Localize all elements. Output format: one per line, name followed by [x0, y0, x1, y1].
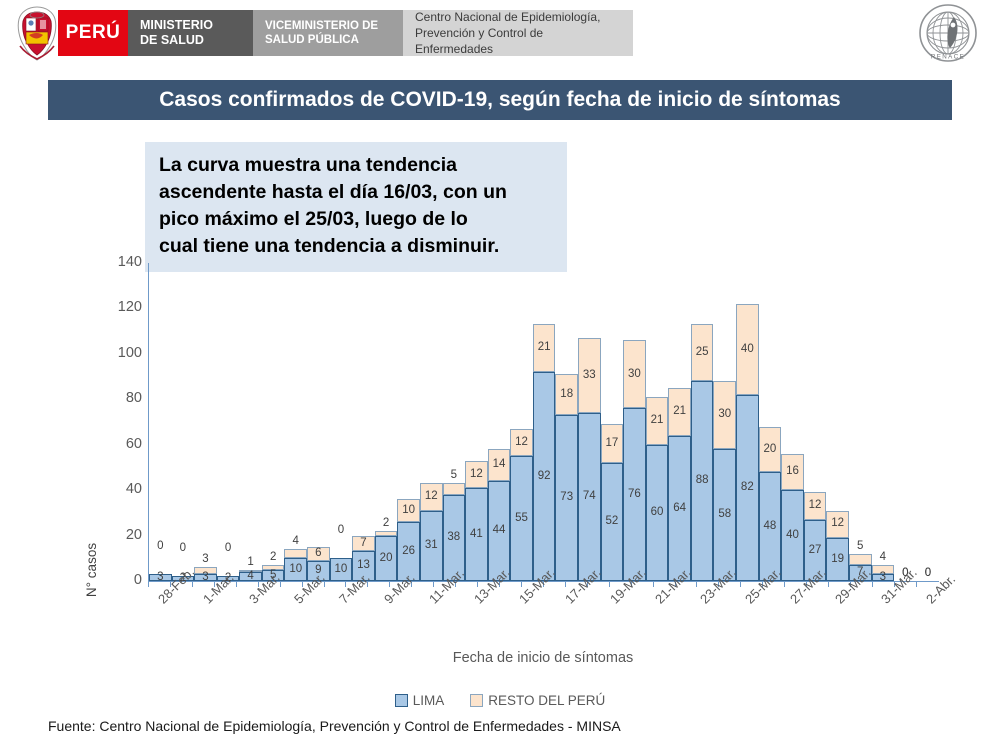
- y-tick-100: 100: [98, 345, 142, 361]
- bar-column[interactable]: 02: [217, 263, 240, 581]
- bar-column[interactable]: 1231: [420, 263, 443, 581]
- peru-label: PERÚ: [58, 10, 128, 56]
- bar-value-resto: 1: [239, 556, 262, 568]
- bar-value-lima: 10: [289, 564, 302, 576]
- bar-value-resto: 14: [493, 459, 506, 471]
- bar-column[interactable]: 3374: [578, 263, 601, 581]
- bar-value-resto: 40: [741, 344, 754, 356]
- bar-column[interactable]: 1752: [601, 263, 624, 581]
- peru-coat-of-arms-icon: [14, 4, 60, 62]
- ministry-line-2: DE SALUD: [140, 33, 241, 48]
- bar-value-resto: 30: [628, 369, 641, 381]
- bar-segment-resto[interactable]: 14: [488, 449, 511, 481]
- bar-value-resto: 21: [673, 406, 686, 418]
- bar-value-resto: 25: [696, 347, 709, 359]
- x-tick-mark: [280, 581, 302, 587]
- bar-column[interactable]: 1873: [555, 263, 578, 581]
- viceministry-block: VICEMINISTERIO DE SALUD PÚBLICA: [253, 10, 403, 56]
- ministry-brand-strip: PERÚ MINISTERIO DE SALUD VICEMINISTERIO …: [58, 10, 633, 56]
- bar-value-resto: 4: [872, 551, 895, 563]
- x-tick-mark: [324, 581, 346, 587]
- y-tick-0: 0: [98, 572, 142, 588]
- bar-value-resto: 20: [764, 444, 777, 456]
- bar-value-resto: 12: [515, 437, 528, 449]
- bar-value-lima: 44: [493, 525, 506, 537]
- bar-segment-lima[interactable]: 64: [668, 436, 691, 581]
- bar-column[interactable]: 00: [894, 263, 917, 581]
- source-footnote: Fuente: Centro Nacional de Epidemiología…: [48, 718, 621, 734]
- bar-column[interactable]: 2192: [533, 263, 556, 581]
- legend-swatch-resto-icon: [470, 694, 483, 707]
- bar-value-lima: 0: [917, 567, 940, 579]
- bar-value-resto: 7: [360, 538, 366, 550]
- bar-value-lima: 64: [673, 503, 686, 515]
- bar-column[interactable]: 57: [849, 263, 872, 581]
- bar-value-resto: 17: [605, 438, 618, 450]
- legend-label-resto: RESTO DEL PERÚ: [488, 693, 605, 708]
- bar-value-lima: 60: [651, 507, 664, 519]
- legend-item-resto[interactable]: RESTO DEL PERÚ: [470, 693, 605, 708]
- bar-segment-resto[interactable]: 30: [713, 381, 736, 449]
- bar-value-lima: 41: [470, 529, 483, 541]
- bar-value-lima: 19: [831, 554, 844, 566]
- ministry-block: MINISTERIO DE SALUD: [128, 10, 253, 56]
- bar-value-lima: 27: [809, 545, 822, 557]
- bar-value-resto: 3: [194, 553, 217, 565]
- bar-segment-resto[interactable]: 12: [510, 429, 533, 456]
- bar-value-lima: 38: [447, 532, 460, 544]
- bar-segment-lima[interactable]: 74: [578, 413, 601, 581]
- bar-column[interactable]: 03: [149, 263, 172, 581]
- bar-value-resto: 2: [375, 517, 398, 529]
- bar-segment-lima[interactable]: 58: [713, 449, 736, 581]
- page-title: Casos confirmados de COVID-19, según fec…: [48, 80, 952, 120]
- bar-column[interactable]: 3058: [713, 263, 736, 581]
- bar-value-resto: 21: [538, 342, 551, 354]
- bar-value-resto: 0: [217, 542, 240, 554]
- bar-value-resto: 5: [849, 540, 872, 552]
- legend-label-lima: LIMA: [413, 693, 445, 708]
- ministry-line-1: MINISTERIO: [140, 18, 241, 33]
- bar-column[interactable]: 538: [443, 263, 466, 581]
- bar-value-lima: 55: [515, 513, 528, 525]
- bar-segment-resto[interactable]: 12: [465, 461, 488, 488]
- bar-column[interactable]: 43: [872, 263, 895, 581]
- plot-area: 0302330214254106901071322010261231538124…: [148, 263, 939, 582]
- bar-value-lima: 10: [335, 564, 348, 576]
- bar-column[interactable]: 2164: [668, 263, 691, 581]
- callout-line-3: pico máximo el 25/03, luego de lo: [159, 206, 553, 233]
- bar-value-resto: 12: [470, 469, 483, 481]
- bar-value-resto: 21: [651, 415, 664, 427]
- government-header: PERÚ MINISTERIO DE SALUD VICEMINISTERIO …: [0, 0, 1000, 66]
- bar-segment-lima[interactable]: 3: [149, 574, 172, 581]
- renace-globe-logo-icon: RENACE: [910, 3, 986, 63]
- bar-column[interactable]: 1444: [488, 263, 511, 581]
- bar-column[interactable]: 410: [284, 263, 307, 581]
- bar-segment-resto[interactable]: [284, 549, 307, 558]
- bar-value-lima: 20: [380, 553, 393, 565]
- bar-column[interactable]: 713: [352, 263, 375, 581]
- bar-segment-lima[interactable]: 20: [375, 536, 398, 581]
- y-tick-40: 40: [98, 481, 142, 497]
- bar-value-lima: 88: [696, 475, 709, 487]
- bar-value-lima: 52: [605, 516, 618, 528]
- bar-segment-lima[interactable]: 3: [194, 574, 217, 581]
- y-axis-ticks: 140120100806040200: [96, 230, 142, 590]
- bar-column[interactable]: 4082: [736, 263, 759, 581]
- bar-segment-lima[interactable]: 60: [646, 445, 669, 581]
- bar-segment-resto[interactable]: 17: [601, 424, 624, 463]
- bar-value-lima: 76: [628, 489, 641, 501]
- bar-series-container: 0302330214254106901071322010261231538124…: [149, 263, 939, 581]
- bar-column[interactable]: 2048: [759, 263, 782, 581]
- bar-value-resto: 16: [786, 466, 799, 478]
- legend-item-lima[interactable]: LIMA: [395, 693, 445, 708]
- bar-value-resto: 4: [284, 535, 307, 547]
- bar-segment-lima[interactable]: 10: [330, 558, 353, 581]
- y-tick-20: 20: [98, 527, 142, 543]
- bar-column[interactable]: 3076: [623, 263, 646, 581]
- bar-value-resto: 33: [583, 370, 596, 382]
- bar-value-resto: 12: [831, 518, 844, 530]
- bar-segment-resto[interactable]: 12: [804, 492, 827, 519]
- bar-value-lima: 48: [764, 521, 777, 533]
- bar-segment-resto[interactable]: 40: [736, 304, 759, 395]
- bar-segment-lima[interactable]: 88: [691, 381, 714, 581]
- bar-column[interactable]: 2588: [691, 263, 714, 581]
- bar-segment-lima[interactable]: 10: [284, 558, 307, 581]
- bar-segment-resto[interactable]: 16: [781, 454, 804, 490]
- bar-segment-lima[interactable]: 55: [510, 456, 533, 581]
- callout-line-2: ascendente hasta el día 16/03, con un: [159, 179, 553, 206]
- bar-segment-lima[interactable]: 3: [872, 574, 895, 581]
- svg-text:RENACE: RENACE: [931, 54, 965, 61]
- bar-segment-lima[interactable]: 4: [239, 572, 262, 581]
- covid-cases-bar-chart: N° casos 140120100806040200 030233021425…: [0, 230, 1000, 700]
- bar-segment-resto[interactable]: 25: [691, 324, 714, 381]
- bar-column[interactable]: 25: [262, 263, 285, 581]
- bar-value-lima: 82: [741, 482, 754, 494]
- bar-segment-resto[interactable]: [849, 554, 872, 565]
- bar-column[interactable]: 010: [330, 263, 353, 581]
- bar-column[interactable]: 1255: [510, 263, 533, 581]
- viceministry-line-1: VICEMINISTERIO DE: [265, 19, 391, 33]
- x-axis-title: Fecha de inicio de síntomas: [148, 650, 938, 666]
- bar-segment-resto[interactable]: 33: [578, 338, 601, 413]
- national-center-block: Centro Nacional de Epidemiología, Preven…: [403, 10, 633, 56]
- bar-value-lima: 13: [357, 560, 370, 572]
- legend-swatch-lima-icon: [395, 694, 408, 707]
- bar-segment-lima[interactable]: 92: [533, 372, 556, 581]
- y-tick-80: 80: [98, 390, 142, 406]
- bar-segment-resto[interactable]: 21: [668, 388, 691, 436]
- bar-column[interactable]: 1026: [397, 263, 420, 581]
- bar-value-resto: 0: [149, 540, 172, 552]
- bar-value-lima: 73: [560, 492, 573, 504]
- bar-segment-resto[interactable]: 30: [623, 340, 646, 408]
- bar-segment-resto[interactable]: 6: [307, 547, 330, 561]
- bar-value-resto: 5: [443, 469, 466, 481]
- bar-value-resto: 30: [718, 409, 731, 421]
- bar-column[interactable]: 1640: [781, 263, 804, 581]
- bar-value-resto: 0: [330, 524, 353, 536]
- bar-value-lima: 26: [402, 546, 415, 558]
- bar-segment-lima[interactable]: 19: [826, 538, 849, 581]
- bar-segment-lima[interactable]: 48: [759, 472, 782, 581]
- y-tick-140: 140: [98, 254, 142, 270]
- y-tick-60: 60: [98, 436, 142, 452]
- bar-column[interactable]: 69: [307, 263, 330, 581]
- bar-segment-lima[interactable]: 52: [601, 463, 624, 581]
- bar-value-lima: 40: [786, 530, 799, 542]
- x-axis-tick-labels: 28-Feb.1-Mar.3-Mar.5-Mar.7-Mar.9-Mar.11-…: [148, 588, 938, 658]
- national-center-line-2: Prevención y Control de Enfermedades: [415, 25, 621, 57]
- bar-value-lima: 31: [425, 540, 438, 552]
- chart-legend: LIMA RESTO DEL PERÚ: [0, 693, 1000, 708]
- bar-value-resto: 10: [402, 505, 415, 517]
- bar-value-lima: 74: [583, 491, 596, 503]
- bar-value-resto: 12: [809, 500, 822, 512]
- y-tick-120: 120: [98, 299, 142, 315]
- callout-line-1: La curva muestra una tendencia: [159, 152, 553, 179]
- bar-column[interactable]: 1241: [465, 263, 488, 581]
- bar-column[interactable]: 220: [375, 263, 398, 581]
- bar-column[interactable]: 33: [194, 263, 217, 581]
- bar-segment-lima[interactable]: 73: [555, 415, 578, 581]
- bar-column[interactable]: 1227: [804, 263, 827, 581]
- bar-column[interactable]: 02: [172, 263, 195, 581]
- bar-segment-lima[interactable]: 41: [465, 488, 488, 581]
- bar-segment-resto[interactable]: [443, 483, 466, 494]
- bar-value-lima: 58: [718, 509, 731, 521]
- bar-column[interactable]: 2160: [646, 263, 669, 581]
- bar-segment-resto[interactable]: 21: [646, 397, 669, 445]
- bar-column[interactable]: 1219: [826, 263, 849, 581]
- bar-column[interactable]: 00: [917, 263, 940, 581]
- bar-value-resto: 0: [172, 542, 195, 554]
- bar-segment-resto[interactable]: 10: [397, 499, 420, 522]
- bar-segment-resto[interactable]: 12: [826, 511, 849, 538]
- bar-segment-lima[interactable]: 76: [623, 408, 646, 581]
- bar-column[interactable]: 14: [239, 263, 262, 581]
- bar-value-resto: 6: [315, 548, 321, 560]
- national-center-line-1: Centro Nacional de Epidemiología,: [415, 9, 621, 25]
- bar-segment-lima[interactable]: 82: [736, 395, 759, 581]
- bar-value-resto: 18: [560, 389, 573, 401]
- bar-value-lima: 92: [538, 471, 551, 483]
- bar-segment-lima[interactable]: 44: [488, 481, 511, 581]
- bar-segment-lima[interactable]: 31: [420, 511, 443, 581]
- bar-segment-resto[interactable]: 21: [533, 324, 556, 372]
- bar-segment-resto[interactable]: 18: [555, 374, 578, 415]
- viceministry-line-2: SALUD PÚBLICA: [265, 33, 391, 47]
- bar-segment-resto[interactable]: 12: [420, 483, 443, 510]
- bar-segment-resto[interactable]: 7: [352, 536, 375, 552]
- bar-segment-resto[interactable]: 20: [759, 427, 782, 472]
- bar-value-resto: 2: [262, 551, 285, 563]
- bar-segment-lima[interactable]: 40: [781, 490, 804, 581]
- bar-value-resto: 12: [425, 491, 438, 503]
